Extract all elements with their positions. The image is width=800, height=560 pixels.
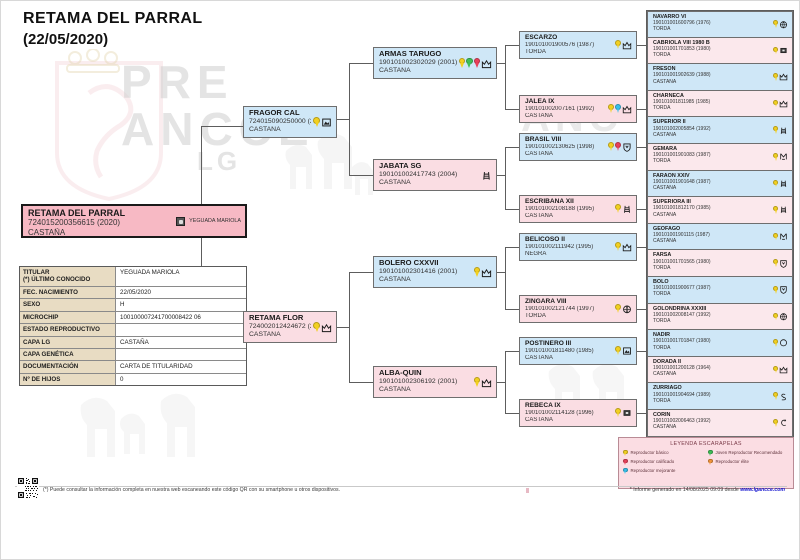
info-table: TITULAR (*) ÚLTIMO CONOCIDO YEGUADA MARI… [19,266,247,386]
rosette-yellow-icon [773,153,778,161]
info-value [116,349,246,360]
rosette-yellow-icon [773,339,778,347]
rosette-#36bfe8-icon [623,468,628,475]
legend-escarapelas: LEYENDA ESCARAPELAS Reproductor básicoRe… [618,437,794,489]
node-capa: TORDA [525,313,613,321]
rosette-#3fbf57-icon [708,450,713,457]
node-id: 190101002108188 (1995) [525,206,613,214]
connector [637,109,647,110]
legend-item-label: Reproductor calificado [631,458,675,466]
node-capa: CASTAÑA [653,424,771,430]
node-name: ARMAS TARUGO [379,50,457,59]
node-id: 190101002306192 (2001) [379,378,472,387]
node-capa: CASTAÑA [653,212,771,218]
tower-badge-icon [779,126,788,135]
rosette-yellow-icon [773,392,778,400]
node-capa: CASTAÑA [379,179,479,188]
rosette-red-icon [474,58,481,68]
pedigree-node[interactable]: FARAON XXIV190101001901648 (1987)CASTAÑA [647,171,793,198]
footer-note: (*) Puede consultar la información compl… [43,487,340,493]
connector [505,209,519,210]
connector [505,45,506,109]
pedigree-node[interactable]: BOLERO CXXVII190101002301416 (2001)CASTA… [373,256,497,288]
crown-badge-icon [779,365,788,374]
connector [349,382,373,383]
rosette-yellow-icon [773,47,778,55]
connector [337,327,349,328]
globe-badge-icon [779,20,788,29]
node-icons [613,304,632,314]
table-row: CAPA GENÉTICA [20,349,246,361]
pedigree-node[interactable]: BOLO190101001900677 (1987)TORDA [647,277,793,304]
footer-generated-text: * Informe generado en 14/08/2025 09:09 d… [630,487,740,493]
node-icons [771,312,788,321]
connector [497,63,505,64]
node-name: BRASIL VIII [525,136,606,144]
node-id: 190101002130625 (1998) [525,144,606,152]
node-capa: CASTAÑA [525,113,606,121]
legend-title: LEYENDA ESCARAPELAS [623,441,789,447]
legend-item-label: Reproductor básico [631,449,669,457]
node-icons [771,232,788,241]
circle-badge-icon [779,338,788,347]
node-icons [311,117,332,128]
small-square-badge-icon [622,408,632,418]
info-value: CASTAÑA [116,337,246,348]
connector [505,147,519,148]
pedigree-node[interactable]: ESCRIBANA XII190101002108188 (1995)CASTA… [519,195,637,223]
node-capa: TORDA [653,345,771,351]
pedigree-node[interactable]: POSTINERO III190101001811480 (1985)CASTA… [519,337,637,365]
qr-code [17,477,39,499]
rosette-yellow-icon [773,233,778,241]
node-capa: CASTAÑA [249,331,311,340]
crest-badge-icon [779,232,788,241]
node-capa: CASTAÑA [653,132,771,138]
rosette-yellow-icon [773,100,778,108]
table-row: ESTADO REPRODUCTIVO [20,324,246,336]
node-capa: CASTAÑA [525,213,613,221]
pedigree-sheet: PRE ANCCE LG ANC RETAMA DEL PARRAL (22/0… [0,0,800,560]
rosette-yellow-icon [773,73,778,81]
node-name: ALBA-QUIN [379,369,472,378]
shield-badge-icon [622,142,632,152]
connector [505,247,506,309]
pedigree-node[interactable]: GOLONDRINA XXXIII190101002008147 (1992)T… [647,304,793,331]
pedigree-node[interactable]: BRASIL VIII190101002130625 (1998)CASTAÑA [519,133,637,161]
node-name: BELICOSO II [525,236,613,244]
legend-item-label: Reproductor élite [716,458,749,466]
node-id: 190101002417743 (2004) [379,171,479,180]
node-capa: TORDA [653,265,771,271]
connector [637,413,647,414]
node-icons [771,179,788,188]
crown-badge-icon [622,104,632,114]
node-icons [771,152,788,161]
node-capa: TORDA [653,52,771,58]
rosette-yellow-icon [474,267,481,277]
node-capa: TORDA [653,318,771,324]
rosette-blue-icon [615,104,621,113]
info-value: CARTA DE TITULARIDAD [116,361,246,372]
node-capa: CASTAÑA [379,276,472,285]
node-capa: CASTAÑA [379,386,472,395]
node-icons [472,377,493,388]
pedigree-node[interactable]: CABRIOLA VIII 1980 B190101001701853 (198… [647,38,793,65]
connector [349,272,373,273]
pedigree-node[interactable]: RETAMA FLOR724002012424672 (2005)CASTAÑA [243,311,337,343]
node-capa: CASTAÑA [249,126,311,135]
rosette-yellow-icon [773,259,778,267]
node-name: JABATA SG [379,162,479,171]
rosette-yellow-icon [773,20,778,28]
info-key: CAPA GENÉTICA [20,349,116,360]
node-capa: CASTAÑA [525,355,613,363]
framed-square-badge-icon [622,346,632,356]
node-capa: CASTAÑA [653,185,771,191]
tower-badge-icon [622,204,632,214]
info-key: TITULAR (*) ÚLTIMO CONOCIDO [20,267,116,286]
rosette-yellow-icon [773,286,778,294]
node-capa: TORDA [525,49,613,57]
node-icons [613,242,632,252]
node-capa: CASTAÑA [379,67,457,76]
info-key: Nº DE HIJOS [20,374,116,385]
crown-badge-icon [779,72,788,81]
info-value: 100100007241700008422 06 [116,312,246,323]
info-value: 22/05/2020 [116,287,246,298]
node-id: 190101001811480 (1985) [525,348,613,356]
connector [637,309,647,310]
node-icons [771,20,788,29]
ancce-shield-watermark [49,53,169,203]
pedigree-node[interactable]: FRESON190101001902639 (1988)CASTAÑA [647,64,793,91]
pedigree-node[interactable]: REBECA IX190101002114128 (1996)CASTAÑA [519,399,637,427]
connector [505,147,506,209]
node-capa: TORDA [653,26,771,32]
info-value [116,324,246,335]
connector [505,351,519,352]
table-row: DOCUMENTACIÓN CARTA DE TITULARIDAD [20,361,246,373]
pedigree-node[interactable]: NAVARRO VI190101001600796 (1976)TORDA [647,11,793,38]
node-icons [606,104,632,114]
tower-badge-icon [779,205,788,214]
node-id: 190101001900576 (1987) [525,42,613,50]
node-name: POSTINERO III [525,340,613,348]
legend-item-label: Reproductor mejorante [631,467,676,475]
connector [505,309,519,310]
info-value: H [116,299,246,310]
connector [349,63,350,175]
connector [497,272,505,273]
pedigree-node[interactable]: ARMAS TARUGO190101002302029 (2001)CASTAÑ… [373,47,497,79]
node-id: 190101002302029 (2001) [379,59,457,68]
tower-badge-icon [481,170,492,181]
crown-badge-icon [622,242,632,252]
pedigree-node[interactable]: CHARNECA190101001811985 (1985)TORDA [647,91,793,118]
legend-item: Reproductor calificado [623,458,704,466]
pedigree-node[interactable]: JALEA IX190101002007161 (1992)CASTAÑA [519,95,637,123]
info-key: CAPA LG [20,337,116,348]
legend-column-right: Joven Reproductor RecomendadoReproductor… [708,449,789,476]
node-icons [771,126,788,135]
pedigree-node[interactable]: BELICOSO II190101002111942 (1995)NEGRA [519,233,637,261]
info-value: YEGUADA MARIOLA [116,267,246,286]
rosette-yellow-icon [773,313,778,321]
globe-badge-icon [622,304,632,314]
node-capa: CASTAÑA [653,371,771,377]
rosette-#f2d021-icon [623,450,628,457]
rosette-yellow-icon [773,126,778,134]
rosette-yellow-icon [608,104,614,113]
node-icons [771,392,788,401]
connector [505,45,519,46]
node-name: ESCARZO [525,34,613,42]
info-key: ESTADO REPRODUCTIVO [20,324,116,335]
node-icons [771,46,788,55]
footer-marker [526,488,529,493]
rosette-yellow-icon [773,419,778,427]
connector [505,351,506,413]
connector [497,175,505,176]
connector [637,45,647,46]
rosette-yellow-icon [313,117,320,128]
pedigree-node[interactable]: ESCARZO190101001900576 (1987)TORDA [519,31,637,59]
node-icons [472,267,493,278]
rosette-yellow-icon [773,180,778,188]
rosette-yellow-icon [608,142,614,151]
pedigree-node[interactable]: GEOFAGO190101001901115 (1987)CASTAÑA [647,224,793,251]
pedigree-node[interactable]: FARSA190101001701565 (1980)TORDA [647,250,793,277]
subject-owner: YEGUADA MARIOLA [189,216,241,226]
node-icons [613,204,632,214]
s2-badge-icon [779,392,788,401]
node-name: ESCRIBANA XII [525,198,613,206]
legend-item: Reproductor élite [708,458,789,466]
connector [349,175,373,176]
node-icons [771,285,788,294]
connector [349,272,350,382]
node-icons [771,338,788,347]
node-name: ZINGARA VIII [525,298,613,306]
info-key: FEC. NACIMIENTO [20,287,116,298]
pedigree-node[interactable]: ALBA-QUIN190101002306192 (2001)CASTAÑA [373,366,497,398]
pedigree-node[interactable]: GEMARA190101001901083 (1987)TORDA [647,144,793,171]
pedigree-node[interactable]: JABATA SG190101002417743 (2004)CASTAÑA [373,159,497,191]
rosette-green-icon [466,58,473,68]
rosette-yellow-icon [615,346,621,355]
legend-column-left: Reproductor básicoReproductor calificado… [623,449,704,476]
shield-badge-icon [779,285,788,294]
node-icons [613,346,632,356]
subject-name: RETAMA DEL PARRAL [28,208,174,218]
node-icons [771,365,788,374]
table-row: Nº DE HIJOS 0 [20,374,246,385]
node-icons [771,72,788,81]
node-icons [771,259,788,268]
node-id: 190101002114128 (1996) [525,410,613,418]
connector [505,109,519,110]
crown-badge-icon [321,322,332,333]
table-row: SEXO H [20,299,246,311]
node-name: REBECA IX [525,402,613,410]
connector [337,119,349,120]
shield-badge-icon [779,259,788,268]
node-capa: TORDA [653,291,771,297]
crown-badge-icon [622,40,632,50]
crown-badge-icon [481,377,492,388]
rosette-#f2963c-icon [708,459,713,466]
connector [497,382,505,383]
node-icons [613,40,632,50]
connector [349,63,373,64]
rosette-yellow-icon [615,408,621,417]
node-id: 190101002121744 (1997) [525,306,613,314]
connector [637,209,647,210]
footer-generated: * Informe generado en 14/08/2025 09:09 d… [630,487,785,493]
node-capa: TORDA [653,158,771,164]
small-square-badge-icon [779,46,788,55]
page-title: RETAMA DEL PARRAL [23,9,203,29]
rosette-yellow-icon [474,377,481,387]
node-capa: TORDA [653,105,771,111]
pedigree-node[interactable]: SUPERIORA III190101001812170 (1985)CASTA… [647,197,793,224]
node-icons [457,58,493,69]
node-id: 724015090250000 (2009) [249,118,311,127]
node-capa: TORDA [653,398,771,404]
rosette-yellow-icon [615,40,621,49]
node-name: FRAGOR CAL [249,109,311,118]
c-badge-icon [779,418,788,427]
node-icons [771,205,788,214]
legend-item-label: Joven Reproductor Recomendado [716,449,783,457]
rosette-yellow-icon [615,304,621,313]
connector [505,247,519,248]
rosette-yellow-icon [615,242,621,251]
crown-badge-icon [779,99,788,108]
pedigree-node[interactable]: ZINGARA VIII190101002121744 (1997)TORDA [519,295,637,323]
pedigree-node[interactable]: NADIR190101001701847 (1980)TORDA [647,330,793,357]
table-row: FEC. NACIMIENTO 22/05/2020 [20,287,246,299]
info-key: SEXO [20,299,116,310]
watermark-lg: LG [197,146,241,177]
crest-badge-icon [779,152,788,161]
page-subtitle: (22/05/2020) [23,31,108,49]
subject-node[interactable]: RETAMA DEL PARRAL 724015200356615 (2020)… [21,204,247,238]
node-icons [613,408,632,418]
info-key: DOCUMENTACIÓN [20,361,116,372]
pedigree-node[interactable]: FRAGOR CAL724015090250000 (2009)CASTAÑA [243,106,337,138]
globe-badge-icon [779,312,788,321]
rosette-yellow-icon [773,206,778,214]
connector [637,147,647,148]
table-row: MICROCHIP 100100007241700008422 06 [20,312,246,324]
subject-capa: CASTAÑA [28,228,174,238]
node-id: 190101002007161 (1992) [525,106,606,114]
tower-badge-icon [779,179,788,188]
legend-item: Reproductor mejorante [623,467,704,475]
node-capa: CASTAÑA [525,417,613,425]
crown-badge-icon [481,58,492,69]
node-icons [311,322,332,333]
info-key: MICROCHIP [20,312,116,323]
node-name: RETAMA FLOR [249,314,311,323]
pedigree-node[interactable]: SUPERIOR II190101002005854 (1992)CASTAÑA [647,117,793,144]
subject-id: 724015200356615 (2020) [28,218,174,228]
watermark-pre: PRE [121,59,234,105]
node-capa: CASTAÑA [653,238,771,244]
framed-square-badge-icon [321,117,332,128]
node-id: 190101002301416 (2001) [379,268,472,277]
subject-owner-block: YEGUADA MARIOLA [174,216,241,226]
pedigree-node[interactable]: CORIN190101002006463 (1992)CASTAÑA [647,410,793,437]
small-square-badge-icon [176,217,185,226]
node-capa: CASTAÑA [525,151,606,159]
node-icons [771,418,788,427]
footer-link[interactable]: www.lgancce.com [740,487,785,493]
node-name: JALEA IX [525,98,606,106]
table-row: CAPA LG CASTAÑA [20,337,246,349]
node-id: 724002012424672 (2005) [249,323,311,332]
info-value: 0 [116,374,246,385]
node-capa: NEGRA [525,251,613,259]
connector [505,413,519,414]
connector [637,351,647,352]
table-row: TITULAR (*) ÚLTIMO CONOCIDO YEGUADA MARI… [20,267,246,287]
node-icons [479,170,492,181]
crown-watermark [63,49,123,83]
rosette-yellow-icon [313,322,320,333]
rosette-#e8405a-icon [623,459,628,466]
rosette-yellow-icon [459,58,466,68]
node-icons [771,99,788,108]
legend-item: Joven Reproductor Recomendado [708,449,789,457]
node-name: BOLERO CXXVII [379,259,472,268]
crown-badge-icon [481,267,492,278]
rosette-yellow-icon [615,204,621,213]
node-capa: CASTAÑA [653,79,771,85]
pedigree-node[interactable]: ZURRIAGO190101001904694 (1989)TORDA [647,383,793,410]
legend-item: Reproductor básico [623,449,704,457]
node-icons [606,142,632,152]
rosette-yellow-icon [773,366,778,374]
rosette-red-icon [615,142,621,151]
connector [201,126,243,127]
horses-watermark-bottom [61,379,241,469]
connector [637,247,647,248]
pedigree-node[interactable]: DORADA II190101001200128 (1964)CASTAÑA [647,357,793,384]
node-id: 190101002111942 (1995) [525,244,613,252]
